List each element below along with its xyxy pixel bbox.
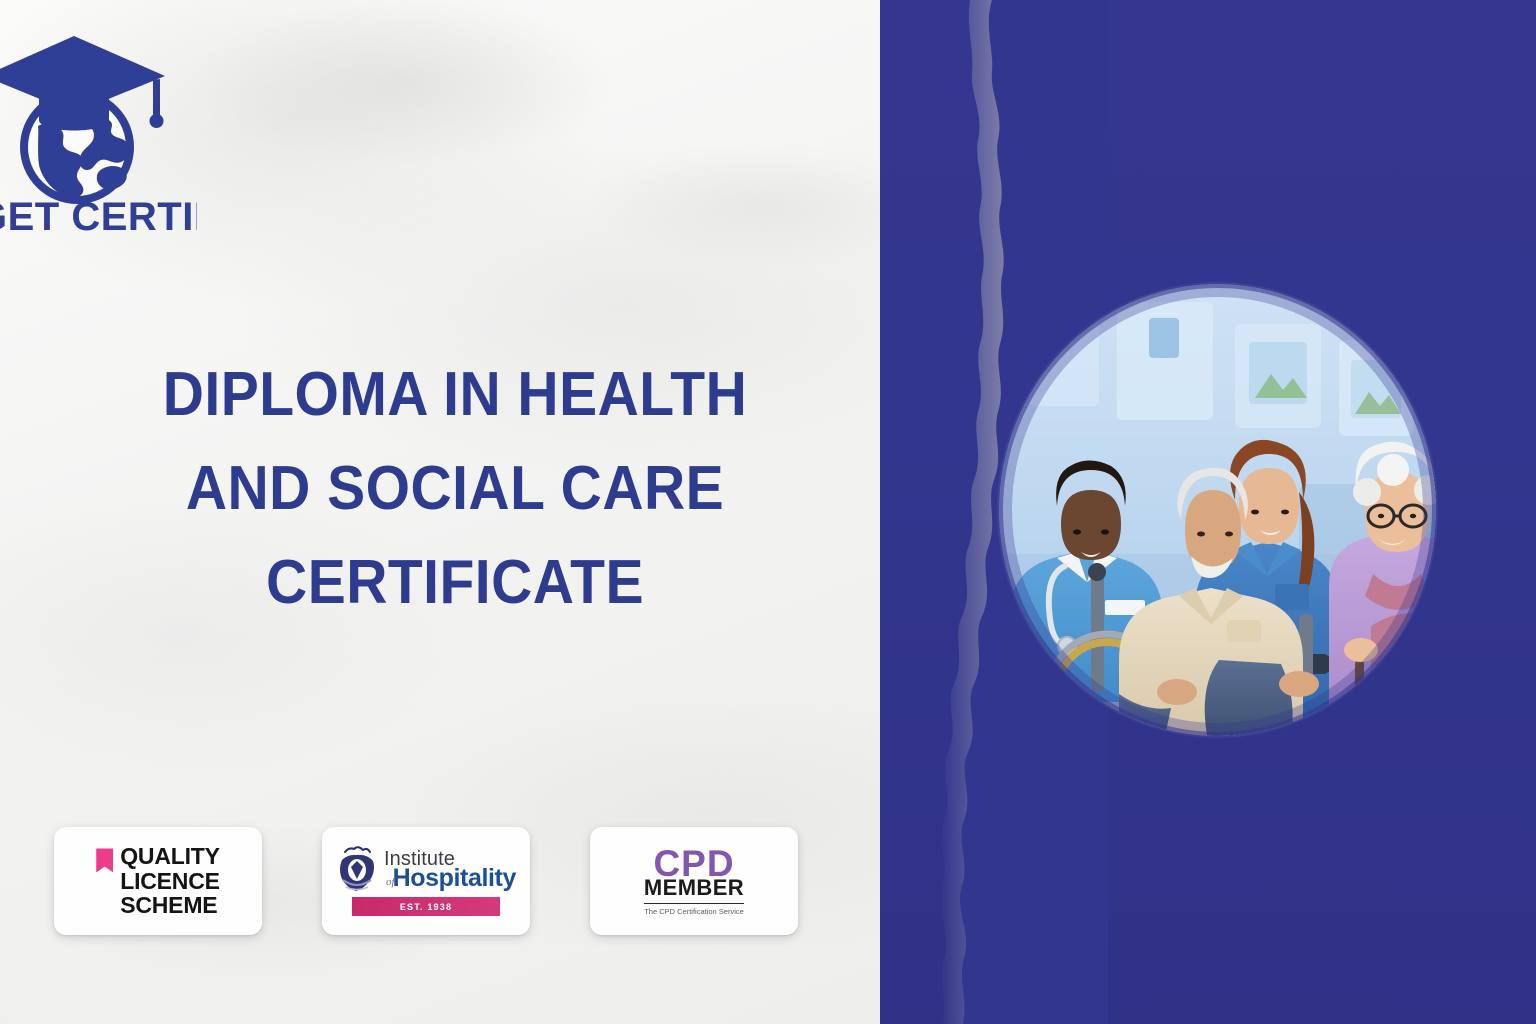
qls-line-3: SCHEME [120, 893, 220, 917]
crest-icon [336, 846, 378, 894]
ioh-line-2: Hospitality [393, 866, 516, 891]
accreditation-badges: QUALITY LICENCE SCHEME [54, 827, 798, 935]
cpd-line-2: MEMBER [644, 875, 744, 904]
hero-photo [999, 284, 1436, 736]
badge-institute-of-hospitality[interactable]: Institute of Hospitality EST. 1938 [322, 827, 530, 935]
page-title-line-2: AND SOCIAL CARE [92, 442, 819, 536]
brand-logo[interactable]: GET CERTIFY [0, 22, 197, 237]
badge-cpd-member[interactable]: CPD MEMBER The CPD Certification Service [590, 827, 798, 935]
ioh-connector: of [386, 877, 395, 888]
page-title: DIPLOMA IN HEALTH AND SOCIAL CARE CERTIF… [92, 348, 819, 631]
qls-line-2: LICENCE [120, 869, 220, 893]
brand-logo-text: GET CERTIFY [0, 195, 197, 237]
page-title-line-3: CERTIFICATE [92, 536, 819, 630]
qls-line-1: QUALITY [120, 844, 220, 868]
ioh-established-banner: EST. 1938 [352, 897, 500, 916]
course-promo-banner: GET CERTIFY DIPLOMA IN HEALTH AND SOCIAL… [0, 0, 1536, 1024]
badge-quality-licence-scheme[interactable]: QUALITY LICENCE SCHEME [54, 827, 262, 935]
page-title-line-1: DIPLOMA IN HEALTH [92, 348, 819, 442]
bookmark-icon [96, 848, 113, 872]
cpd-subtitle: The CPD Certification Service [644, 907, 744, 916]
graduation-cap-globe-icon [0, 36, 165, 204]
